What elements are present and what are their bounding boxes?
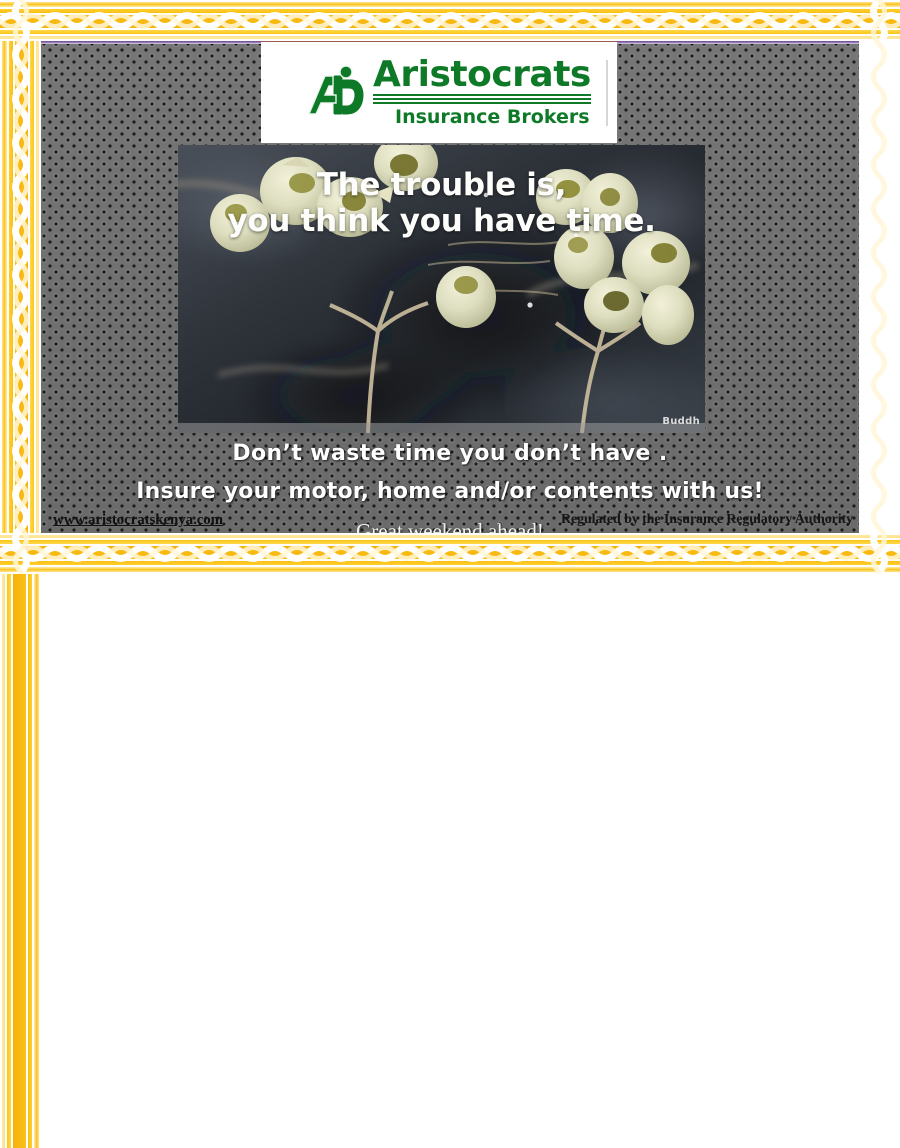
logo-card-divider xyxy=(606,60,608,126)
message-line-2: Insure your motor, home and/or contents … xyxy=(41,479,859,504)
photo-credit: Buddh xyxy=(662,416,700,427)
frame-band-left xyxy=(0,0,41,574)
flyer-footer: www.aristocratskenya.com Regulated by th… xyxy=(41,509,859,531)
quote-photo: The trouble is, you think you have time.… xyxy=(178,145,705,433)
brand-logo-card: Aristocrats Insurance Brokers xyxy=(261,41,617,143)
quote-line-2: you think you have time. xyxy=(178,203,705,239)
regulator-note: Regulated by the Insurance Regulatory Au… xyxy=(561,512,853,528)
flyer-content-area: Aristocrats Insurance Brokers xyxy=(41,41,859,533)
frame-band-bottom xyxy=(0,533,900,574)
quote-line-1: The trouble is, xyxy=(178,167,705,203)
brand-lockup: Aristocrats Insurance Brokers xyxy=(261,58,591,128)
brand-wordmark: Aristocrats Insurance Brokers xyxy=(373,58,591,128)
frame-band-top xyxy=(0,0,900,41)
flyer-canvas: Aristocrats Insurance Brokers xyxy=(0,0,900,574)
rope-pattern-right-icon xyxy=(869,0,889,574)
message-line-1: Don’t waste time you don’t have . xyxy=(41,441,859,466)
aib-monogram-icon xyxy=(305,62,367,124)
company-name: Aristocrats xyxy=(373,58,591,92)
wordmark-underbars xyxy=(373,94,591,104)
website-link[interactable]: www.aristocratskenya.com xyxy=(53,512,223,529)
frame-band-right xyxy=(0,574,41,1148)
company-tagline: Insurance Brokers xyxy=(395,106,591,128)
